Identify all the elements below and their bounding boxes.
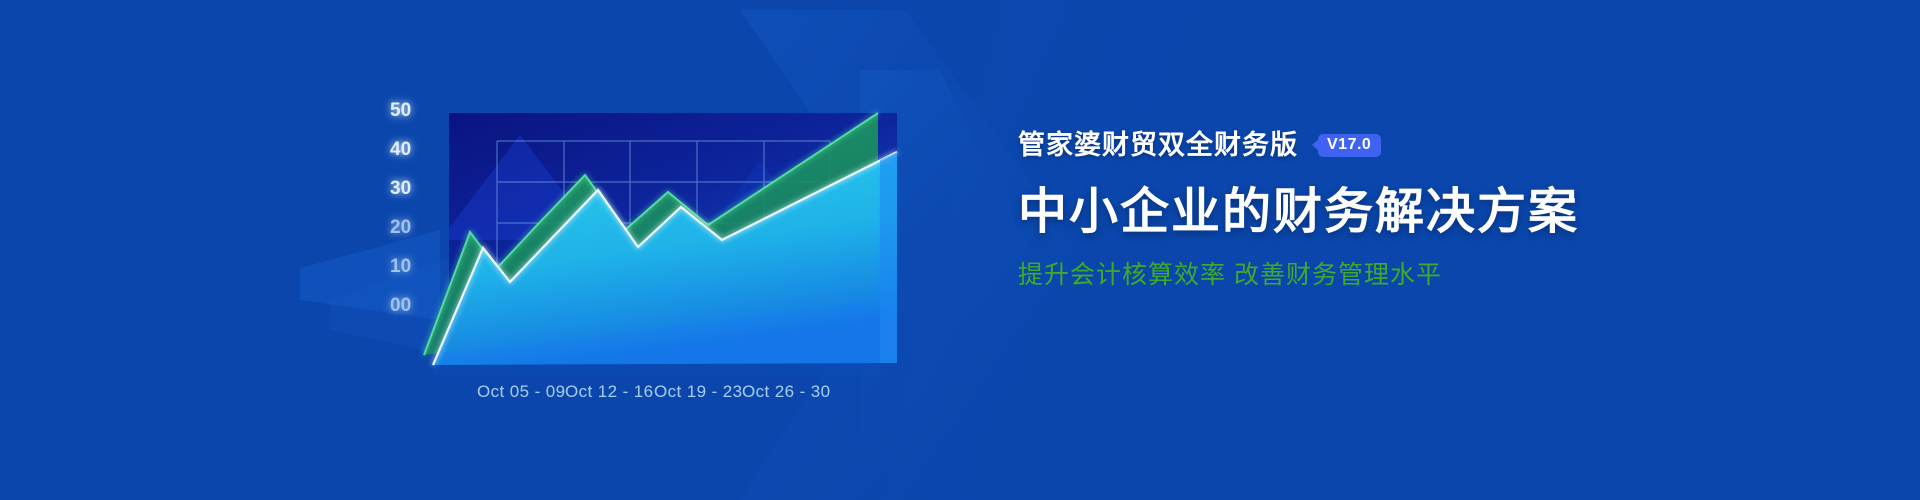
headline: 中小企业的财务解决方案 xyxy=(1018,182,1818,242)
svg-text:Oct 12 - 16: Oct 12 - 16 xyxy=(565,382,654,401)
svg-text:30: 30 xyxy=(390,178,411,199)
svg-text:50: 50 xyxy=(390,100,411,121)
svg-text:20: 20 xyxy=(390,217,411,238)
svg-text:00: 00 xyxy=(390,295,411,316)
svg-text:40: 40 xyxy=(390,139,411,160)
brand-row: 管家婆财贸双全财务版 V17.0 xyxy=(1018,128,1818,162)
subtitle: 提升会计核算效率 改善财务管理水平 xyxy=(1018,258,1818,292)
svg-text:Oct 26 - 30: Oct 26 - 30 xyxy=(742,382,831,401)
svg-text:Oct 05 - 09: Oct 05 - 09 xyxy=(477,382,566,401)
banner-text-block: 管家婆财贸双全财务版 V17.0 中小企业的财务解决方案 提升会计核算效率 改善… xyxy=(1018,128,1818,378)
version-badge: V17.0 xyxy=(1318,134,1381,157)
x-axis-labels: Oct 05 - 09 Oct 12 - 16 Oct 19 - 23 Oct … xyxy=(477,382,831,401)
y-axis-labels: 50 40 30 20 10 00 xyxy=(390,100,411,316)
svg-text:Oct 19 - 23: Oct 19 - 23 xyxy=(654,382,743,401)
version-badge-wrap: V17.0 xyxy=(1312,134,1381,157)
chart-illustration: 50 40 30 20 10 00 Oct 05 - 09 Oct 12 - 1… xyxy=(0,0,1100,500)
svg-text:10: 10 xyxy=(390,256,411,277)
brand-name: 管家婆财贸双全财务版 xyxy=(1018,128,1298,162)
promo-banner: 50 40 30 20 10 00 Oct 05 - 09 Oct 12 - 1… xyxy=(0,0,1920,500)
